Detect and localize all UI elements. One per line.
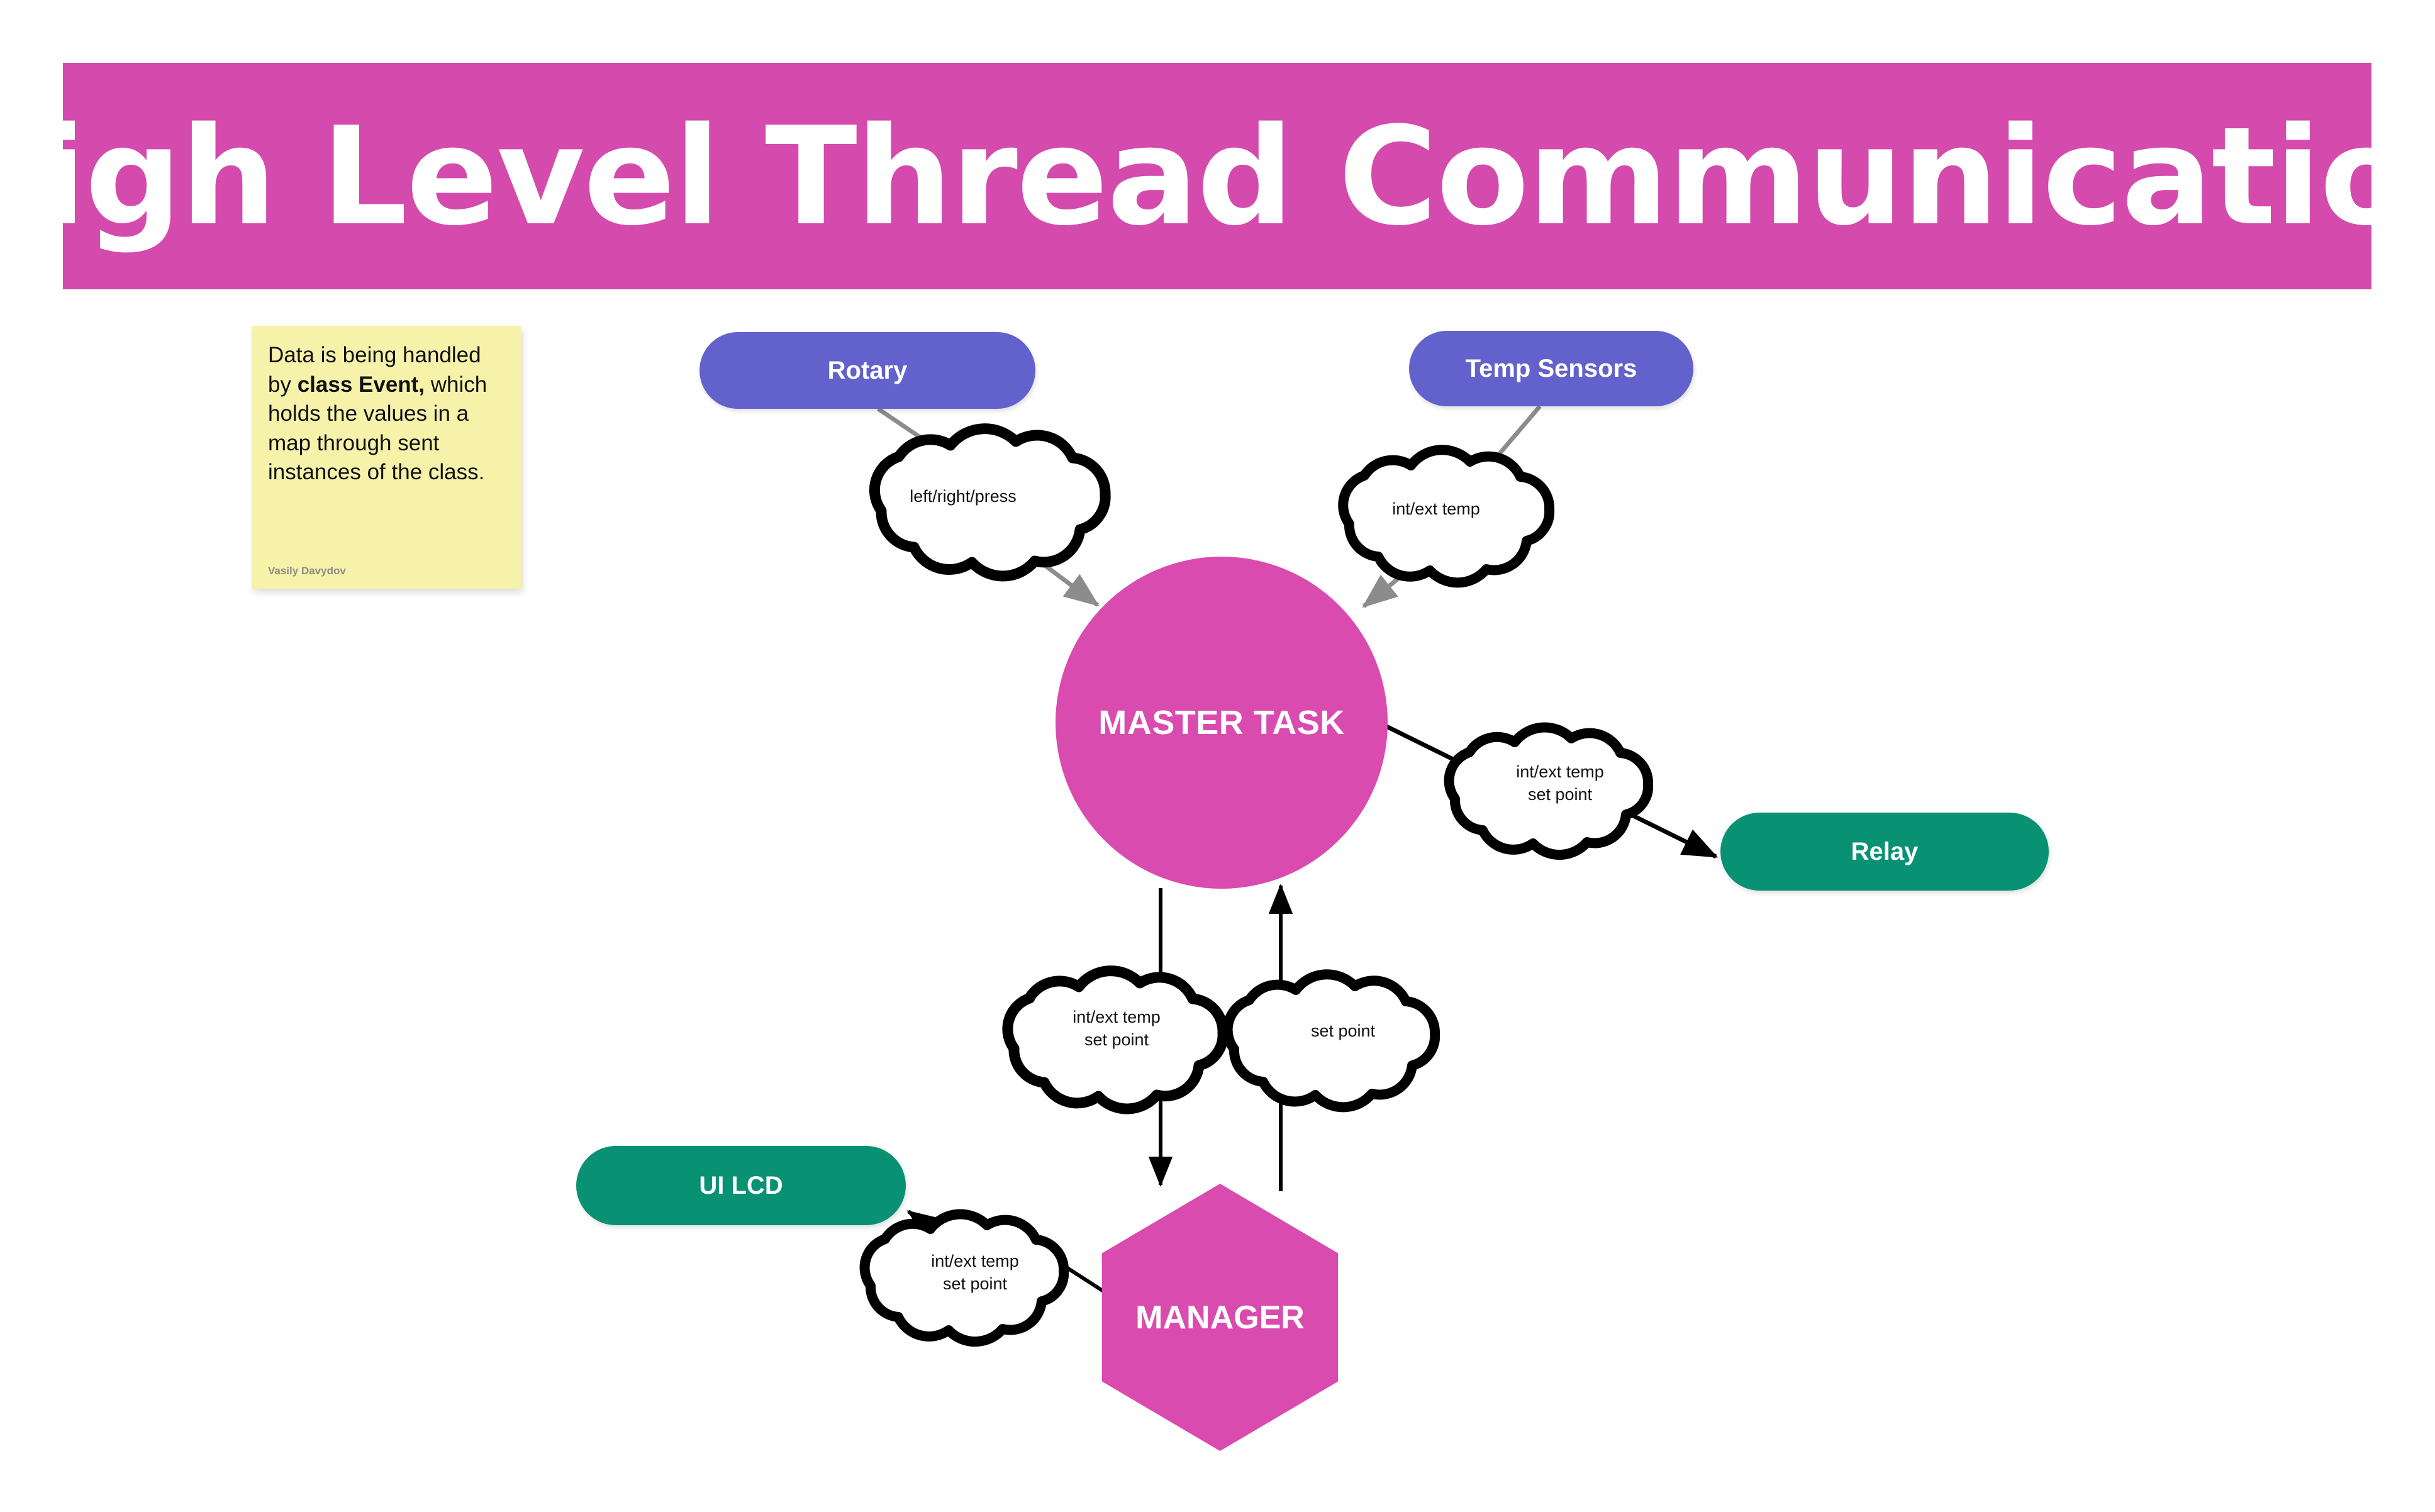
cloud-label-int-ext-temp-set-point-relay: int/ext temp set point xyxy=(1459,761,1661,806)
note-line-3: holds the values in a xyxy=(268,401,469,426)
note-line-4: map through sent xyxy=(268,431,439,455)
node-relay[interactable]: Relay xyxy=(1720,813,2049,891)
sticky-note-author: Vasily Davydov xyxy=(268,565,504,577)
node-master-task[interactable]: MASTER TASK xyxy=(1056,557,1388,889)
note-line-1: Data is being handled xyxy=(268,343,481,367)
sticky-note-text: Data is being handled by class Event, wh… xyxy=(268,341,504,487)
edge-cloud-to-relay xyxy=(1609,804,1716,857)
sticky-note: Data is being handled by class Event, wh… xyxy=(252,326,521,589)
edge-temp-sensors-to-cloud xyxy=(1482,406,1540,474)
cloud-label-int-ext-temp: int/ext temp xyxy=(1332,498,1540,521)
note-line-2-bold: class Event, xyxy=(298,372,425,397)
cloud-label-int-ext-temp-set-point-lcd: int/ext temp set point xyxy=(874,1250,1076,1295)
note-line-2-prefix: by xyxy=(268,372,298,397)
cloud-label-int-ext-temp-set-point-manager: int/ext temp set point xyxy=(1013,1006,1220,1051)
cloud-int-ext-temp-set-point-lcd xyxy=(865,1214,1064,1342)
note-line-5: instances of the class. xyxy=(268,460,484,484)
edge-manager-to-cloud-lcd xyxy=(1052,1258,1110,1296)
node-temp-sensors[interactable]: Temp Sensors xyxy=(1409,331,1693,406)
cloud-int-ext-temp-top xyxy=(1343,450,1549,582)
edge-cloud-to-master-task-right xyxy=(1364,545,1440,606)
cloud-label-left-right-press: left/right/press xyxy=(859,486,1067,508)
edge-rotary-to-cloud xyxy=(878,409,964,467)
edge-cloud-to-ui-lcd xyxy=(908,1211,969,1254)
cloud-left-right-press xyxy=(874,429,1105,576)
node-rotary[interactable]: Rotary xyxy=(699,332,1035,409)
page-title: High Level Thread Communication xyxy=(0,109,2435,244)
cloud-label-set-point: set point xyxy=(1239,1020,1447,1043)
cloud-int-ext-temp-set-point-relay xyxy=(1449,727,1649,855)
title-banner: High Level Thread Communication xyxy=(63,63,2371,289)
cloud-set-point xyxy=(1228,974,1435,1107)
node-ui-lcd[interactable]: UI LCD xyxy=(576,1146,906,1225)
note-line-2-suffix: which xyxy=(425,372,487,397)
cloud-int-ext-temp-set-point-manager xyxy=(1008,971,1223,1109)
node-manager[interactable]: MANAGER xyxy=(1102,1184,1338,1451)
edge-cloud-to-master-task-left xyxy=(1009,538,1098,605)
